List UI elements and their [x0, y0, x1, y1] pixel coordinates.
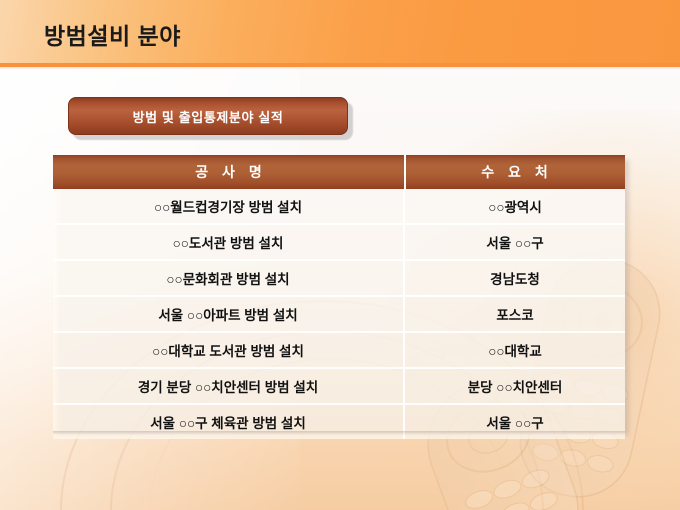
- table-row: ○○대학교 도서관 방범 설치○○대학교: [53, 332, 625, 368]
- cell-work-name: 경기 분당 ○○치안센터 방범 설치: [53, 368, 404, 404]
- table-header-row: 공 사 명 수 요 처: [53, 155, 625, 189]
- table-row: ○○월드컵경기장 방범 설치○○광역시: [53, 189, 625, 224]
- projects-table: 공 사 명 수 요 처 ○○월드컵경기장 방범 설치○○광역시○○도서관 방범 …: [53, 155, 625, 439]
- section-banner: 방범 및 출입통제분야 실적: [68, 97, 348, 135]
- cell-client: ○○광역시: [404, 189, 625, 224]
- table-header: 공 사 명 수 요 처: [53, 155, 625, 189]
- cell-client: 경남도청: [404, 260, 625, 296]
- column-header-client: 수 요 처: [404, 155, 625, 189]
- table-row: 경기 분당 ○○치안센터 방범 설치분당 ○○치안센터: [53, 368, 625, 404]
- table-body: ○○월드컵경기장 방범 설치○○광역시○○도서관 방범 설치서울 ○○구○○문화…: [53, 189, 625, 439]
- cell-client: ○○대학교: [404, 332, 625, 368]
- cell-work-name: ○○월드컵경기장 방범 설치: [53, 189, 404, 224]
- cell-work-name: ○○대학교 도서관 방범 설치: [53, 332, 404, 368]
- cell-client: 분당 ○○치안센터: [404, 368, 625, 404]
- cell-work-name: ○○문화회관 방범 설치: [53, 260, 404, 296]
- section-banner-body: 방범 및 출입통제분야 실적: [68, 97, 348, 135]
- table-row: 서울 ○○아파트 방범 설치포스코: [53, 296, 625, 332]
- table-row: ○○도서관 방범 설치서울 ○○구: [53, 224, 625, 260]
- column-header-work-name: 공 사 명: [53, 155, 404, 189]
- cell-client: 서울 ○○구: [404, 224, 625, 260]
- cell-work-name: ○○도서관 방범 설치: [53, 224, 404, 260]
- cell-client: 포스코: [404, 296, 625, 332]
- table-row: ○○문화회관 방범 설치경남도청: [53, 260, 625, 296]
- table-bottom-edge: [53, 431, 625, 435]
- page-title: 방범설비 분야: [44, 17, 181, 51]
- header-drop-shadow: [0, 67, 680, 70]
- presentation-slide: 방범설비 분야 방범 및 출입통제분야 실적 공 사 명 수 요 처 ○○월드컵…: [0, 0, 680, 510]
- section-banner-label: 방범 및 출입통제분야 실적: [133, 107, 284, 126]
- cell-work-name: 서울 ○○아파트 방범 설치: [53, 296, 404, 332]
